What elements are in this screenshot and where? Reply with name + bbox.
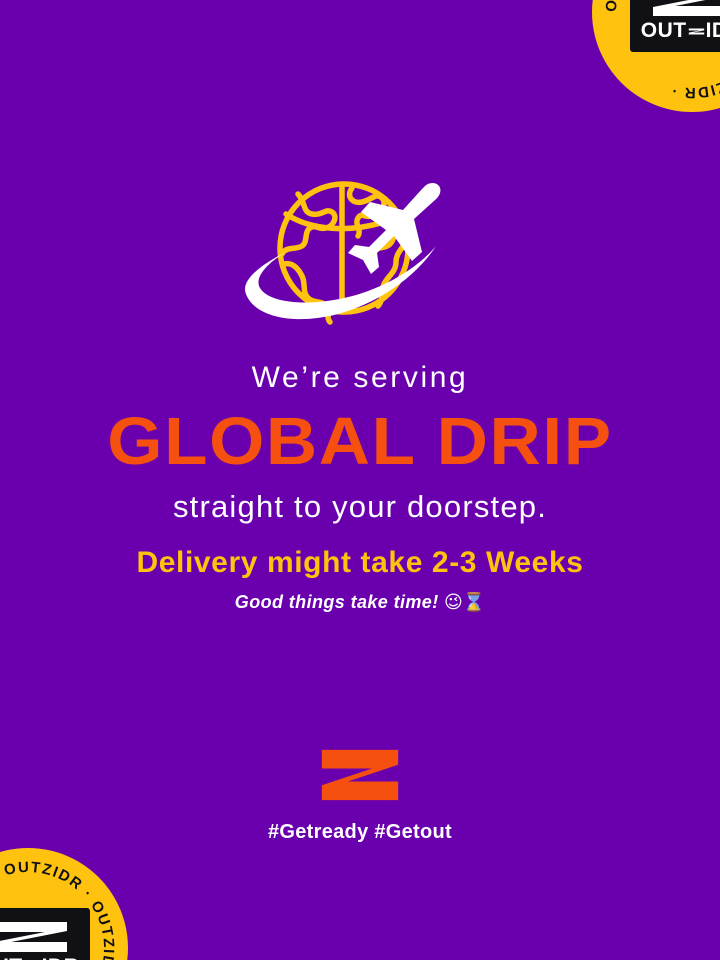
badge-core: OUT IDR bbox=[0, 908, 90, 960]
z-monogram-icon bbox=[0, 920, 71, 954]
badge-wordmark-right: IDR bbox=[42, 956, 80, 960]
z-logo-icon bbox=[320, 746, 400, 804]
badge-wordmark: OUT IDR bbox=[641, 20, 720, 41]
badge-wordmark: OUT IDR bbox=[0, 956, 79, 960]
badge-wordmark-right: IDR bbox=[706, 20, 720, 41]
eyebrow-text: We’re serving bbox=[28, 362, 692, 394]
headline-block: We’re serving GLOBAL DRIP straight to yo… bbox=[0, 362, 720, 523]
hero-artwork bbox=[0, 168, 720, 338]
promo-poster: OUTZIDR · OUTZIDR · OUTZIDR · OUTZIDR · … bbox=[0, 0, 720, 960]
delivery-estimate-text: Delivery might take 2-3 Weeks bbox=[24, 546, 696, 579]
globe-airplane-icon bbox=[240, 168, 480, 338]
subheadline-text: straight to your doorstep. bbox=[28, 491, 692, 524]
z-monogram-icon bbox=[649, 0, 720, 18]
footer-lockup: #Getready #Getout bbox=[0, 746, 720, 842]
badge-wordmark-left: OUT bbox=[641, 20, 687, 41]
badge-core: OUT IDR bbox=[630, 0, 720, 52]
brand-badge-top-right: OUTZIDR · OUTZIDR · OUTZIDR · OUTZIDR · … bbox=[592, 0, 720, 112]
z-monogram-icon bbox=[688, 23, 705, 40]
delivery-notice: Delivery might take 2-3 Weeks Good thing… bbox=[0, 546, 720, 613]
hashtag-text: #Getready #Getout bbox=[268, 822, 452, 842]
brand-badge-bottom-left: OUTZIDR · OUTZIDR · OUTZIDR · OUTZIDR · … bbox=[0, 848, 128, 960]
delivery-note: Good things take time! 😉⌛ bbox=[24, 593, 696, 613]
delivery-note-text: Good things take time! bbox=[235, 592, 439, 612]
wink-hourglass-icon: 😉⌛ bbox=[444, 592, 485, 613]
badge-wordmark-left: OUT bbox=[0, 956, 23, 960]
page-title: GLOBAL DRIP bbox=[8, 408, 712, 475]
